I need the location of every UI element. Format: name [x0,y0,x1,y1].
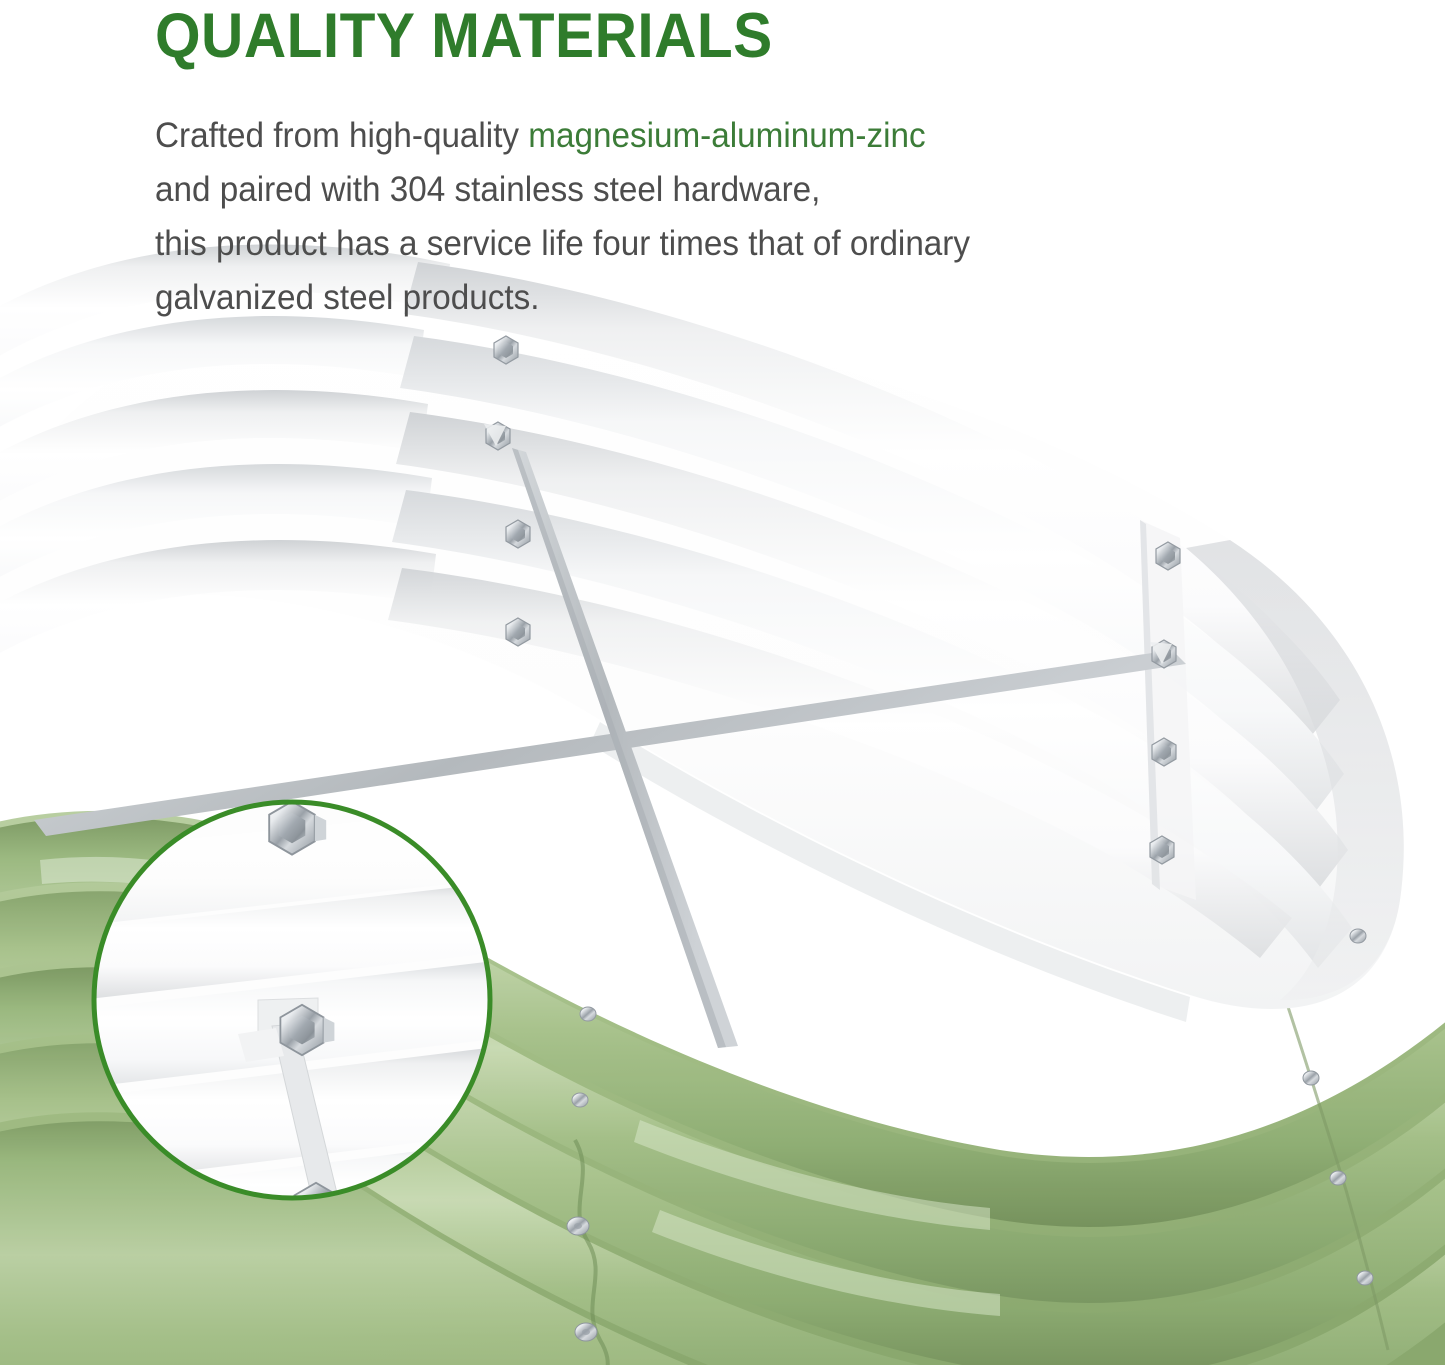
product-infographic: QUALITY MATERIALS Crafted from high-qual… [0,0,1445,1365]
product-illustration [0,0,1445,1365]
